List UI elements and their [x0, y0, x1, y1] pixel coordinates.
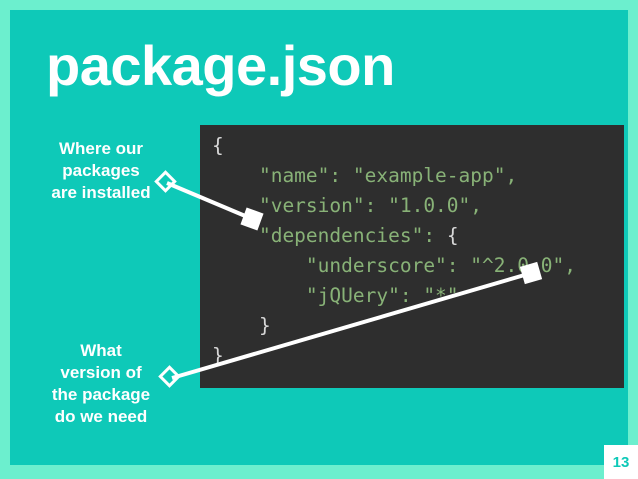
annotation-label-version: What version of the package do we need — [16, 340, 186, 428]
page-number-badge: 13 — [604, 445, 638, 479]
page-title: package.json — [46, 38, 395, 94]
code-block-panel: { "name": "example-app", "version": "1.0… — [200, 125, 624, 388]
slide: package.json { "name": "example-app", "v… — [0, 0, 638, 479]
slide-content-area: package.json { "name": "example-app", "v… — [10, 10, 628, 465]
annotation-label-dependencies: Where our packages are installed — [16, 138, 186, 204]
code-block-text: { "name": "example-app", "version": "1.0… — [212, 131, 576, 371]
